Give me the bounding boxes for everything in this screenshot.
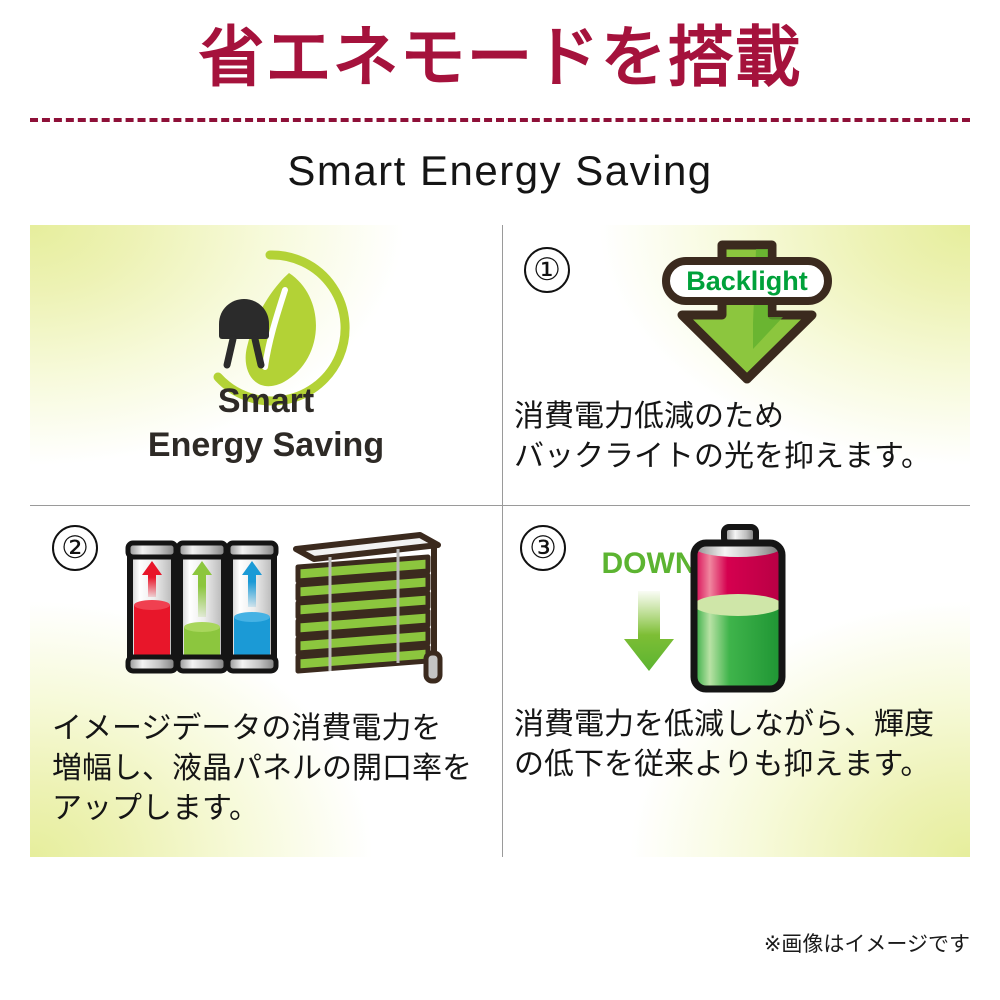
footer-disclaimer: ※画像はイメージです [764,928,970,958]
grid-vertical-divider [502,225,503,857]
step-number-2: ② [52,525,98,571]
feature-grid: Smart Energy Saving ① Backlight 消費電力低減のた… [30,225,970,857]
rgb-cylinders-icon [122,533,282,688]
blue-cylinder [228,543,276,671]
plug-icon [219,299,269,365]
green-cylinder [178,543,226,671]
logo-caption: Smart Energy Saving [30,380,502,467]
step-number-1: ① [524,247,570,293]
venetian-blinds-icon [288,527,448,692]
page-subtitle: Smart Energy Saving [0,148,1000,194]
grid-cell-step-3: ③ DOWN [502,505,970,857]
red-cylinder [128,543,176,671]
step-1-description: 消費電力低減のため バックライトの光を抑えます。 [514,397,964,477]
header: 省エネモードを搭載 Smart Energy Saving [0,0,1000,215]
backlight-badge-label: Backlight [686,266,808,296]
grid-horizontal-divider [30,505,970,506]
grid-cell-logo: Smart Energy Saving [30,225,502,505]
grid-cell-step-1: ① Backlight 消費電力低減のため バックライトの光を抑えます。 [502,225,970,505]
battery-icon [680,523,800,708]
page-title: 省エネモードを搭載 [0,24,1000,90]
step-3-description: 消費電力を低減しながら、輝度 の低下を従来よりも抑えます。 [514,705,970,785]
title-divider [30,118,970,122]
grid-cell-step-2: ② [30,505,502,857]
backlight-down-arrow-icon: Backlight [652,237,842,392]
step-2-description: イメージデータの消費電力を 増幅し、液晶パネルの開口率を アップします。 [52,709,502,829]
step-number-3: ③ [520,525,566,571]
